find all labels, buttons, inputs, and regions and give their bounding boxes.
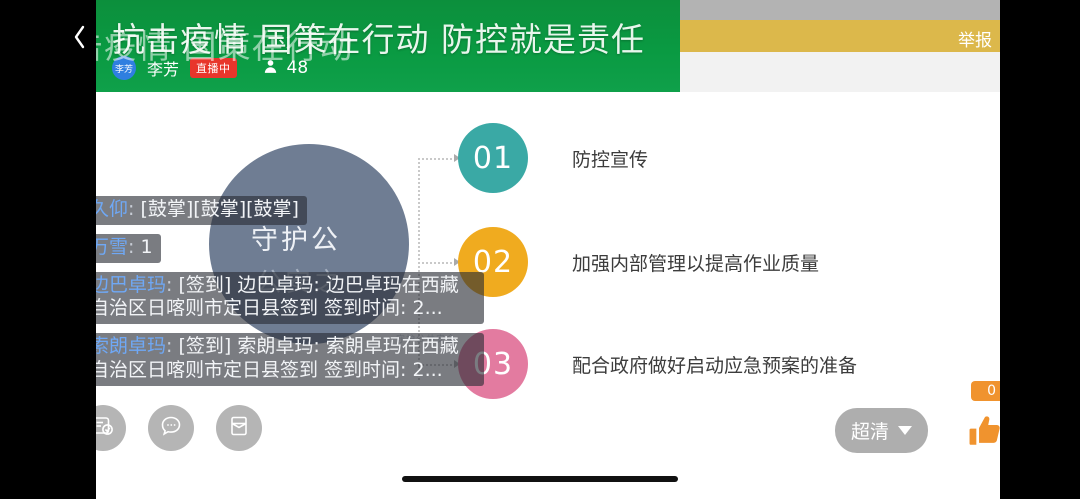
chevron-down-icon <box>898 426 912 435</box>
chat-message-text: [鼓掌][鼓掌][鼓掌] <box>140 198 298 220</box>
report-button[interactable]: 举报 <box>958 26 992 51</box>
top-strip-gray <box>680 0 1000 20</box>
chat-colon: : <box>128 236 140 258</box>
slide-item-label-03: 配合政府做好启动应急预案的准备 <box>572 351 857 378</box>
chat-message: 边巴卓玛: [签到] 边巴卓玛: 边巴卓玛在西藏自治区日喀则市定日县签到 签到时… <box>84 272 484 325</box>
chat-colon: : <box>166 335 178 357</box>
viewer-count: 48 <box>287 58 309 78</box>
letterbox-right <box>1000 0 1080 499</box>
slide-item-number-circle-01: 01 <box>458 123 528 193</box>
slide-item-01: 01 防控宣传 <box>458 123 648 193</box>
chat-sender-name: 边巴卓玛 <box>90 274 166 296</box>
person-icon <box>262 58 279 79</box>
quality-label: 超清 <box>851 417 889 444</box>
chat-colon: : <box>166 274 178 296</box>
host-name: 李芳 <box>147 56 179 80</box>
chat-sender-name: 索朗卓玛 <box>90 335 166 357</box>
live-stream-screen: 守护公 公安之 守护公共安全 01 防控宣传 02 加强内部管理以提高作业质量 … <box>0 0 1080 499</box>
back-button[interactable] <box>72 24 88 40</box>
page-title: 抗击疫情 国策在行动 防控就是责任 <box>112 13 645 61</box>
chat-bubble-icon <box>159 414 183 442</box>
viewer-count-box: 48 <box>262 58 309 79</box>
slide-item-03: 03 配合政府做好启动应急预案的准备 <box>458 329 857 399</box>
gift-button[interactable] <box>216 405 262 451</box>
chat-message-text: 1 <box>140 236 152 258</box>
gift-card-icon <box>227 414 251 442</box>
home-indicator <box>402 476 678 482</box>
letterbox-left <box>0 0 96 499</box>
slide-item-label-02: 加强内部管理以提高作业质量 <box>572 249 819 276</box>
chat-message: 索朗卓玛: [签到] 索朗卓玛: 索朗卓玛在西藏自治区日喀则市定日县签到 签到时… <box>84 333 484 386</box>
host-info-row: 李芳 李芳 直播中 48 <box>112 56 308 80</box>
chat-colon: : <box>128 198 140 220</box>
top-strip-gold <box>680 20 1000 52</box>
status-badge: 直播中 <box>190 58 237 78</box>
chevron-left-icon <box>72 35 88 54</box>
chat-overlay: 久仰: [鼓掌][鼓掌][鼓掌] 万雪: 1 边巴卓玛: [签到] 边巴卓玛: … <box>84 196 504 386</box>
quality-selector[interactable]: 超清 <box>835 408 928 453</box>
top-strip-white <box>680 52 1000 92</box>
live-header-banner: 抗击疫情 国策在行动 防控就是责任 李芳 李芳 直播中 48 <box>96 0 680 92</box>
chat-button[interactable] <box>148 405 194 451</box>
avatar[interactable]: 李芳 <box>112 56 136 80</box>
slide-item-02: 02 加强内部管理以提高作业质量 <box>458 227 819 297</box>
chat-message: 久仰: [鼓掌][鼓掌][鼓掌] <box>84 196 307 225</box>
slide-item-label-01: 防控宣传 <box>572 145 648 172</box>
connector-line-1 <box>418 158 456 160</box>
